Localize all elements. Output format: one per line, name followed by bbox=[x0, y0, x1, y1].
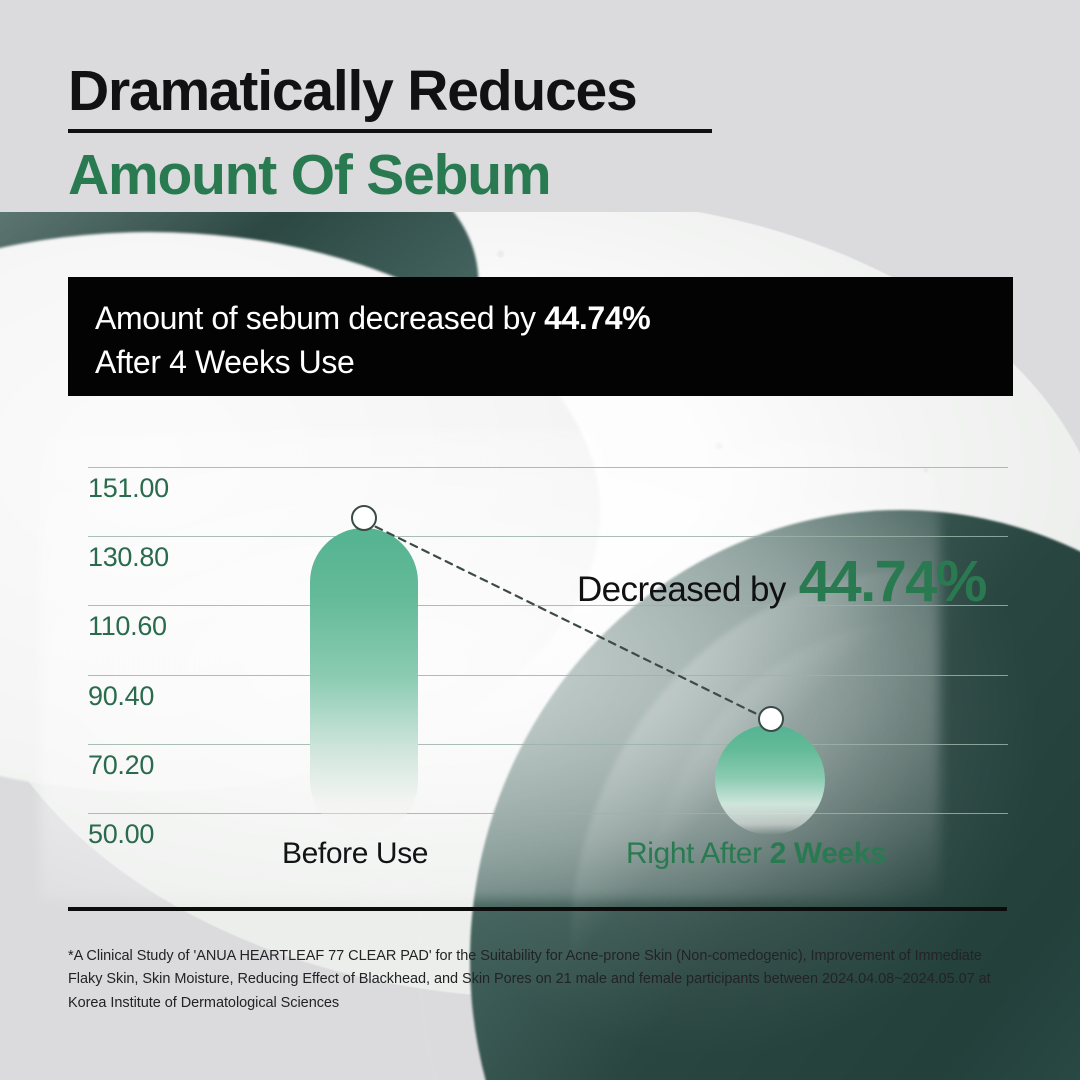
callout-lead-text: Decreased by bbox=[577, 570, 786, 610]
clinical-study-footnote: *A Clinical Study of 'ANUA HEARTLEAF 77 … bbox=[68, 945, 998, 1015]
headline-underline bbox=[68, 129, 712, 133]
sebum-bar-chart: 151.00 130.80 110.60 90.40 70.20 50.00 B… bbox=[88, 455, 1008, 855]
banner-line-1-prefix: Amount of sebum decreased by bbox=[95, 300, 544, 336]
trend-connector bbox=[88, 455, 1008, 855]
callout-percent-value: 44.74% bbox=[799, 548, 986, 615]
data-point-marker-before bbox=[351, 505, 377, 531]
decrease-callout: Decreased by 44.74% bbox=[577, 548, 986, 615]
x-axis-label-after-lead: Right After bbox=[626, 837, 770, 870]
headline-line-1: Dramatically Reduces bbox=[68, 62, 712, 121]
data-point-marker-after bbox=[758, 706, 784, 732]
banner-line-1: Amount of sebum decreased by 44.74% bbox=[95, 296, 1013, 340]
x-axis-label-after-bold: 2 Weeks bbox=[770, 837, 887, 870]
x-axis-label-before-use: Before Use bbox=[282, 837, 428, 871]
banner-line-2: After 4 Weeks Use bbox=[95, 340, 1013, 384]
result-banner: Amount of sebum decreased by 44.74% Afte… bbox=[68, 277, 1013, 396]
sebum-reduction-infographic: Dramatically Reduces Amount Of Sebum Amo… bbox=[0, 0, 1080, 1080]
footer-divider bbox=[68, 907, 1007, 911]
headline-line-2: Amount Of Sebum bbox=[68, 146, 712, 205]
banner-line-1-value: 44.74% bbox=[544, 300, 650, 336]
headline-block: Dramatically Reduces Amount Of Sebum bbox=[68, 62, 712, 206]
x-axis-label-right-after: Right After 2 Weeks bbox=[626, 837, 886, 871]
